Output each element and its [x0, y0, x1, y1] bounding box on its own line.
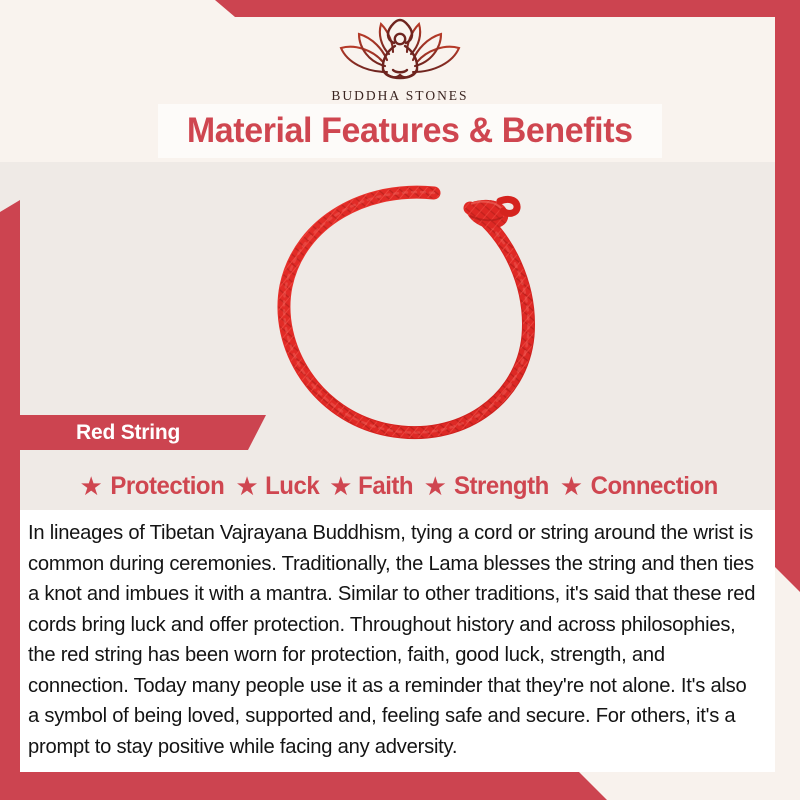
benefit-label: Connection	[591, 472, 718, 501]
lotus-meditation-figure-icon	[325, 18, 475, 86]
page-title: Material Features & Benefits	[187, 111, 633, 151]
benefit-label: Luck	[265, 472, 319, 501]
benefit-label: Strength	[454, 472, 549, 501]
decorative-bar-bottom	[0, 772, 607, 800]
benefit-label: Faith	[359, 472, 414, 501]
benefit-item-luck: ★ Luck	[235, 472, 320, 501]
brand-name: BUDDHA STONES	[0, 88, 800, 104]
benefit-label: Protection	[110, 472, 224, 501]
benefits-row: ★ Protection ★ Luck ★ Faith ★ Strength ★…	[20, 466, 780, 506]
material-label: Red String	[76, 421, 180, 445]
decorative-bar-left	[0, 200, 20, 800]
description-panel: In lineages of Tibetan Vajrayana Buddhis…	[20, 510, 775, 772]
benefit-item-faith: ★ Faith	[329, 472, 415, 501]
star-icon: ★	[560, 473, 583, 499]
infographic-page: BUDDHA STONES Material Features & Benefi…	[0, 0, 800, 800]
star-icon: ★	[329, 473, 352, 499]
star-icon: ★	[235, 473, 258, 499]
page-title-box: Material Features & Benefits	[158, 104, 662, 158]
description-text: In lineages of Tibetan Vajrayana Buddhis…	[28, 518, 759, 762]
star-icon: ★	[424, 473, 447, 499]
benefit-item-protection: ★ Protection	[79, 472, 226, 501]
benefit-item-strength: ★ Strength	[424, 472, 551, 501]
decorative-bar-top	[215, 0, 800, 17]
material-label-banner: Red String	[18, 415, 266, 450]
brand-logo: BUDDHA STONES	[0, 18, 800, 104]
star-icon: ★	[79, 473, 102, 499]
benefit-item-connection: ★ Connection	[560, 472, 721, 501]
product-image-red-string-bracelet	[238, 168, 588, 458]
